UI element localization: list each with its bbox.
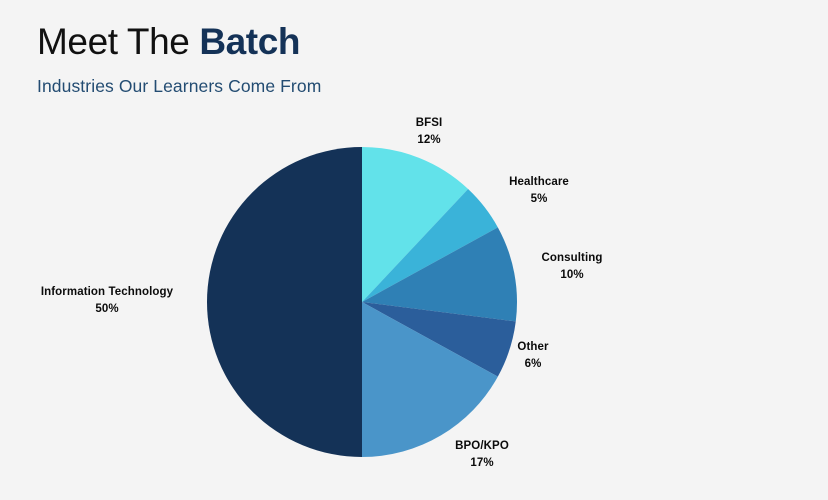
slice-label-information-technology-value: 50% <box>41 301 173 318</box>
slice-label-healthcare: Healthcare 5% <box>509 174 569 208</box>
slice-label-other-name: Other <box>517 341 548 353</box>
pie-chart-svg <box>0 0 828 500</box>
slice-label-consulting: Consulting 10% <box>541 250 602 284</box>
pie-chart: BFSI 12% Healthcare 5% Consulting 10% Ot… <box>0 0 828 500</box>
slice-label-other-value: 6% <box>517 356 548 373</box>
slice-label-other: Other 6% <box>517 339 548 373</box>
slice-label-consulting-value: 10% <box>541 267 602 284</box>
slice-label-bfsi: BFSI 12% <box>416 115 443 149</box>
slice-label-healthcare-name: Healthcare <box>509 176 569 188</box>
slice-label-bpo-kpo-name: BPO/KPO <box>455 440 509 452</box>
slice-label-bpo-kpo-value: 17% <box>455 455 509 472</box>
slice-label-healthcare-value: 5% <box>509 191 569 208</box>
pie-slice-information-technology <box>207 147 362 457</box>
slice-label-bfsi-name: BFSI <box>416 117 443 129</box>
slice-label-consulting-name: Consulting <box>541 252 602 264</box>
slice-label-bpo-kpo: BPO/KPO 17% <box>455 438 509 472</box>
slice-label-bfsi-value: 12% <box>416 132 443 149</box>
pie-slice-group <box>207 147 517 457</box>
slice-label-information-technology: Information Technology 50% <box>41 284 173 318</box>
slice-label-information-technology-name: Information Technology <box>41 286 173 298</box>
